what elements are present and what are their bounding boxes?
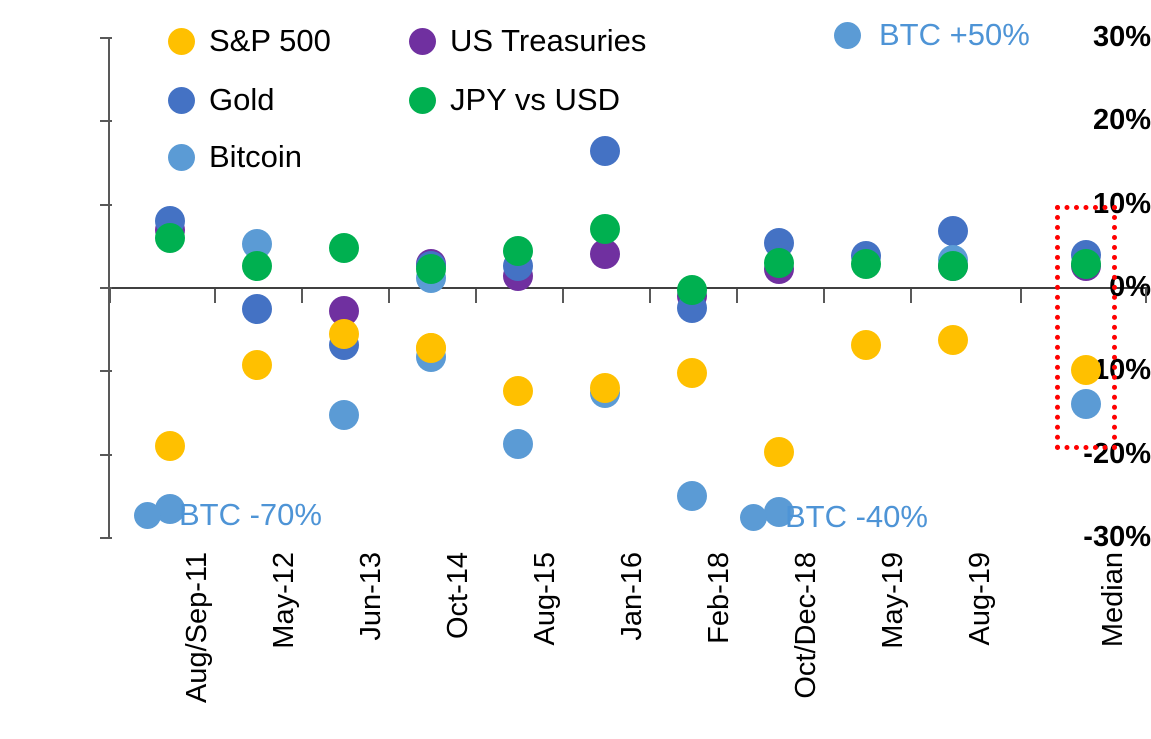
x-axis-zero-line <box>108 287 1147 289</box>
sp500-swatch-icon <box>168 28 195 55</box>
x-axis-tick <box>301 289 303 303</box>
x-axis-tick <box>475 289 477 303</box>
data-point <box>329 233 359 263</box>
x-axis-tick <box>388 289 390 303</box>
data-point <box>938 325 968 355</box>
x-axis-tick <box>1145 289 1147 303</box>
y-axis-tick-label: 20% <box>1059 106 1151 135</box>
annotation-btc-minus-40: BTC -40% <box>740 499 928 535</box>
data-point <box>416 333 446 363</box>
y-axis-tick-label: 10% <box>1059 190 1151 219</box>
data-point <box>155 223 185 253</box>
data-point <box>764 437 794 467</box>
data-point <box>329 319 359 349</box>
legend-label-sp500: S&P 500 <box>209 23 331 59</box>
legend-label-bitcoin: Bitcoin <box>209 139 302 175</box>
data-point <box>155 431 185 461</box>
treasuries-swatch-icon <box>409 28 436 55</box>
x-axis-label: Aug-15 <box>529 552 562 646</box>
annotation-label-btc-minus-40: BTC -40% <box>785 499 928 535</box>
x-axis-tick <box>649 289 651 303</box>
x-axis-label: Aug-19 <box>964 552 997 646</box>
y-axis-tick <box>100 454 112 456</box>
x-axis-label: Jun-13 <box>355 552 388 641</box>
data-point <box>1071 389 1101 419</box>
legend-item-bitcoin: Bitcoin <box>168 139 302 175</box>
gold-swatch-icon <box>168 87 195 114</box>
legend-item-us-treasuries: US Treasuries <box>409 23 646 59</box>
legend-label-gold: Gold <box>209 82 274 118</box>
data-point <box>764 248 794 278</box>
y-axis-tick <box>100 204 112 206</box>
data-point <box>242 251 272 281</box>
legend-label-jpy-vs-usd: JPY vs USD <box>450 82 620 118</box>
legend-item-jpy-vs-usd: JPY vs USD <box>409 82 620 118</box>
legend-item-sp500: S&P 500 <box>168 23 331 59</box>
btc-plus-50-dot-icon <box>834 22 861 49</box>
x-axis-label: Jan-16 <box>616 552 649 641</box>
data-point <box>503 376 533 406</box>
data-point <box>590 214 620 244</box>
data-point <box>851 249 881 279</box>
data-point <box>938 251 968 281</box>
y-axis-tick-label: -20% <box>1059 440 1151 469</box>
x-axis-tick <box>1020 289 1022 303</box>
x-axis-tick <box>214 289 216 303</box>
x-axis-tick <box>562 289 564 303</box>
x-axis-label: Median <box>1097 552 1130 647</box>
annotation-btc-plus-50: BTC +50% <box>834 17 1030 53</box>
x-axis-tick <box>109 289 111 303</box>
jpy-swatch-icon <box>409 87 436 114</box>
btc-minus-70-dot-icon <box>134 502 161 529</box>
x-axis-label: May-19 <box>877 552 910 649</box>
x-axis-label: Oct/Dec-18 <box>790 552 823 699</box>
data-point <box>590 136 620 166</box>
data-point <box>1071 355 1101 385</box>
x-axis-label: May-12 <box>268 552 301 649</box>
x-axis-label: Feb-18 <box>703 552 736 644</box>
y-axis-tick <box>100 537 112 539</box>
data-point <box>677 358 707 388</box>
legend-item-gold: Gold <box>168 82 274 118</box>
y-axis-tick-label: 0% <box>1059 273 1151 302</box>
y-axis-tick <box>100 120 112 122</box>
annotation-btc-minus-70: BTC -70% <box>134 497 322 533</box>
x-axis-tick <box>736 289 738 303</box>
data-point <box>242 350 272 380</box>
x-axis-tick <box>910 289 912 303</box>
y-axis-tick-label: -30% <box>1059 523 1151 552</box>
x-axis-label: Oct-14 <box>442 552 475 639</box>
scatter-chart: 30%20%10%0%-10%-20%-30% Aug/Sep-11May-12… <box>0 0 1151 739</box>
y-axis-tick <box>100 370 112 372</box>
annotation-label-btc-minus-70: BTC -70% <box>179 497 322 533</box>
x-axis-label: Aug/Sep-11 <box>181 552 214 703</box>
data-point <box>416 254 446 284</box>
data-point <box>677 275 707 305</box>
data-point <box>503 236 533 266</box>
legend-label-us-treasuries: US Treasuries <box>450 23 646 59</box>
y-axis-tick-label: 30% <box>1059 23 1151 52</box>
data-point <box>938 216 968 246</box>
data-point <box>1071 249 1101 279</box>
bitcoin-swatch-icon <box>168 144 195 171</box>
data-point <box>851 330 881 360</box>
btc-minus-40-dot-icon <box>740 504 767 531</box>
data-point <box>590 373 620 403</box>
data-point <box>242 294 272 324</box>
annotation-label-btc-plus-50: BTC +50% <box>879 17 1030 53</box>
data-point <box>677 481 707 511</box>
data-point <box>503 429 533 459</box>
y-axis-tick <box>100 37 112 39</box>
data-point <box>329 400 359 430</box>
x-axis-tick <box>823 289 825 303</box>
